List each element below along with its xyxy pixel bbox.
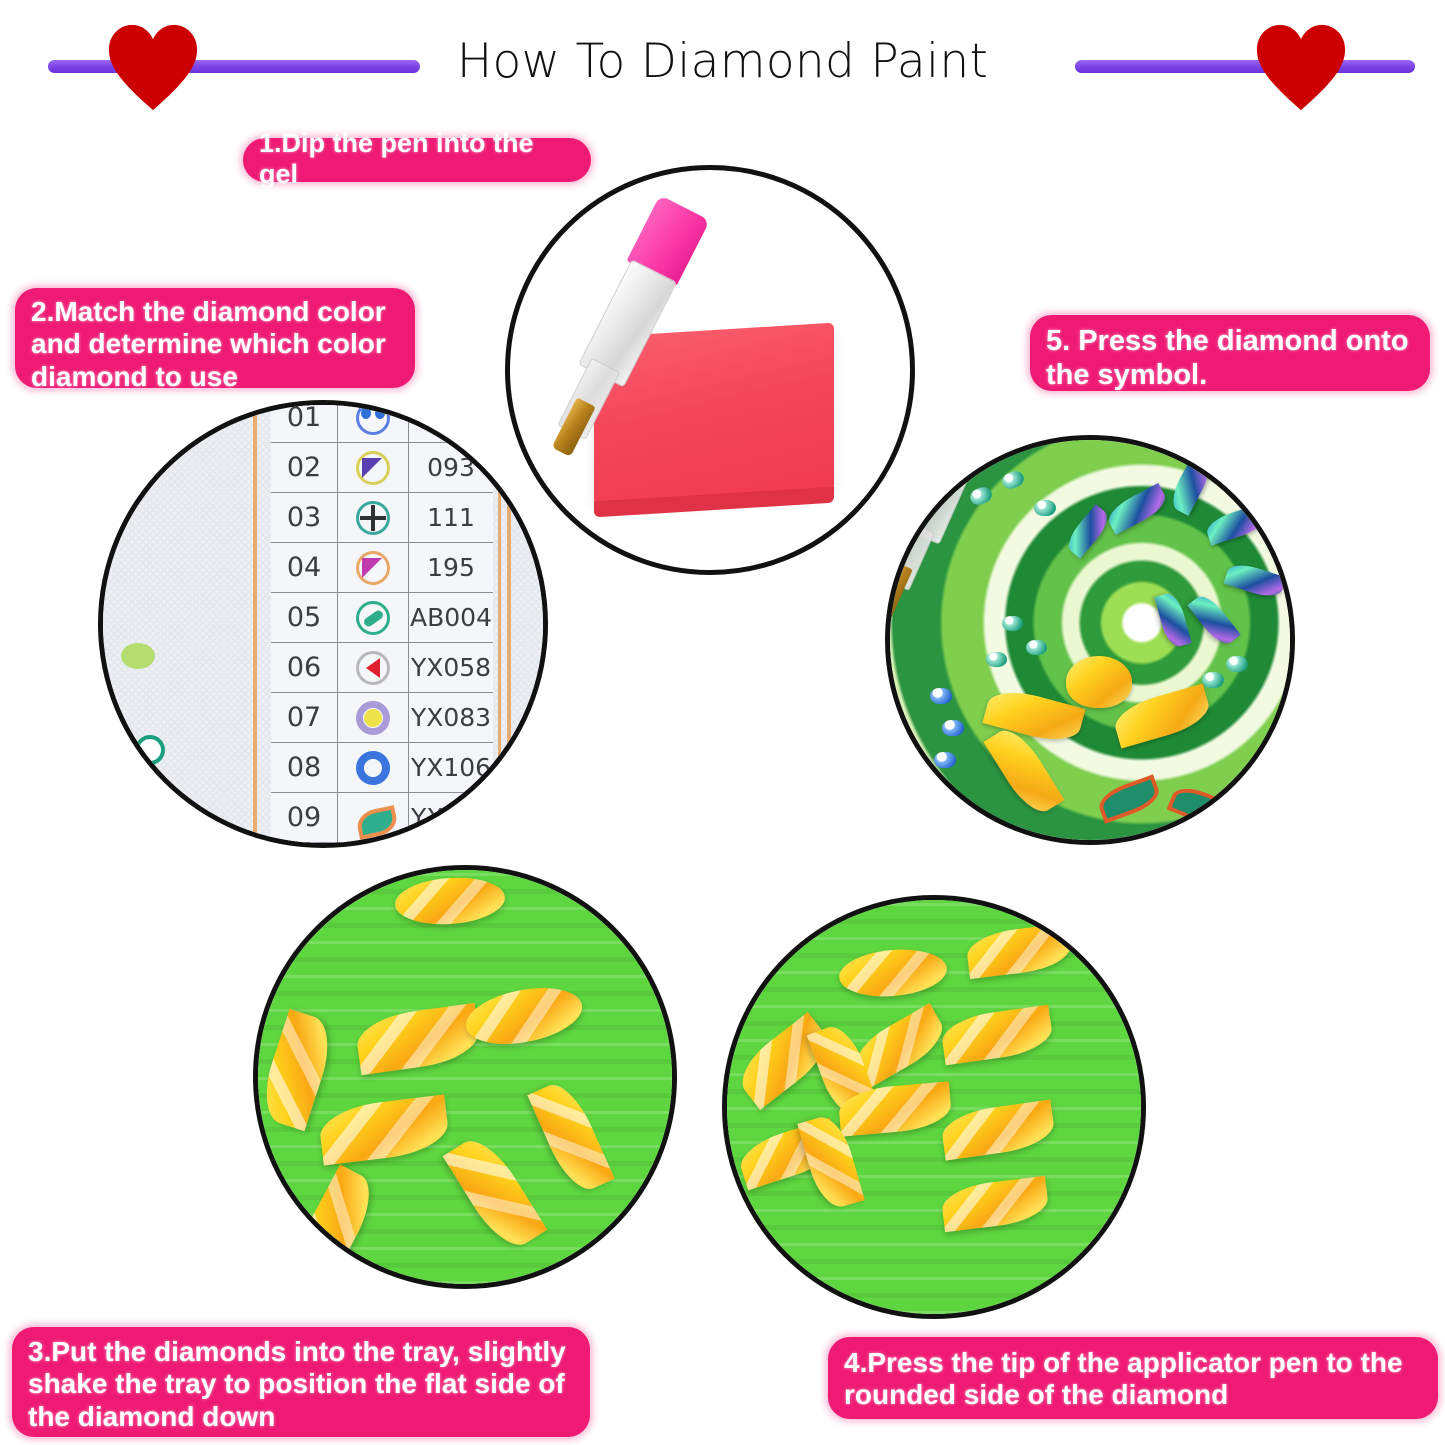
green-diamond-tray: [727, 900, 1141, 1314]
chart-code: YX125: [409, 793, 493, 842]
table-row: 04 195: [271, 543, 493, 593]
yellow-diamond: [287, 1164, 382, 1285]
small-gem-dot: [1226, 656, 1248, 672]
chart-number: 05: [271, 593, 338, 642]
step-1-photo-bubble: [505, 165, 915, 575]
step-2-photo-bubble: 01 028 02 093: [98, 400, 548, 848]
small-gem-dot: [930, 688, 952, 704]
chart-code: AB004: [409, 593, 493, 642]
canvas-sheet: 01 028 02 093: [103, 405, 543, 843]
chart-number: 08: [271, 743, 338, 792]
chart-number: 06: [271, 643, 338, 692]
yellow-diamond: [393, 874, 506, 928]
chart-symbol-plus-in-circle-icon: [338, 493, 409, 542]
small-gem-dot: [1202, 672, 1224, 688]
chart-symbol-open-ring-icon: [338, 743, 409, 792]
symbol-chart-table: 01 028 02 093: [271, 400, 493, 848]
canvas-symbol-blob-2: [135, 735, 165, 765]
chart-number: 02: [271, 443, 338, 492]
chart-number: 03: [271, 493, 338, 542]
chart-code: 195: [409, 543, 493, 592]
small-gem-dot: [942, 720, 964, 736]
pen-dipping-scene: [510, 170, 910, 570]
yellow-diamond: [443, 1130, 548, 1257]
yellow-diamond: [940, 1099, 1057, 1160]
small-gem-dot: [986, 652, 1007, 667]
chart-code: YX058: [409, 643, 493, 692]
table-row: 03 111: [271, 493, 493, 543]
chart-symbol-slash-in-circle-icon: [338, 593, 409, 642]
chart-code: 028: [409, 400, 493, 442]
page-header: How To Diamond Paint: [0, 0, 1445, 120]
yellow-diamond: [940, 1004, 1055, 1065]
yellow-diamond: [354, 1003, 483, 1075]
chart-number: 09: [271, 793, 338, 842]
chart-code: 093: [409, 443, 493, 492]
yellow-diamond: [317, 1094, 451, 1165]
small-gem-dot: [934, 752, 956, 768]
chart-code: YX083: [409, 693, 493, 742]
table-row: 05 AB004: [271, 593, 493, 643]
chart-symbol-leaf-outline-icon: [338, 793, 409, 842]
yellow-diamond: [527, 1077, 615, 1198]
chart-symbol-triangle-in-circle-icon: [338, 543, 409, 592]
table-row-partial: [271, 843, 493, 848]
mandala-scene: [890, 440, 1290, 840]
chart-rail-left: [253, 405, 257, 843]
yellow-diamond: [461, 979, 587, 1053]
small-gem-dot: [1034, 500, 1056, 516]
yellow-diamond: [940, 1175, 1051, 1232]
chart-code: YX106: [409, 743, 493, 792]
chart-symbol-leaf-outline-icon: [338, 843, 409, 848]
yellow-gem-under-pen: [1066, 656, 1132, 708]
chart-symbol-double-dot-circle-icon: [338, 400, 409, 442]
table-row: 01 028: [271, 400, 493, 443]
table-row: 09 YX125: [271, 793, 493, 843]
chart-number: 07: [271, 693, 338, 742]
yellow-diamond: [255, 1009, 339, 1132]
small-gem-dot: [1002, 616, 1023, 631]
chart-symbol-filled-dot-in-ring-icon: [338, 693, 409, 742]
step-3-label: 3.Put the diamonds into the tray, slight…: [12, 1327, 590, 1437]
step-5-photo-bubble: [885, 435, 1295, 845]
table-row: 07 YX083: [271, 693, 493, 743]
chart-rail-right-a: [498, 405, 501, 843]
chart-rail-right-b: [507, 405, 511, 843]
step-4-label: 4.Press the tip of the applicator pen to…: [828, 1337, 1438, 1419]
chart-code: 111: [409, 493, 493, 542]
chart-number: 04: [271, 543, 338, 592]
table-row: 02 093: [271, 443, 493, 493]
step-5-label: 5. Press the diamond onto the symbol.: [1030, 315, 1430, 391]
step-4-photo-bubble: [722, 895, 1146, 1319]
chart-symbol-triangle-in-circle-icon: [338, 443, 409, 492]
step-3-photo-bubble: [253, 865, 677, 1289]
green-diamond-tray: [258, 870, 672, 1284]
chart-number: 01: [271, 400, 338, 442]
step-2-label: 2.Match the diamond color and determine …: [15, 288, 415, 388]
table-row: 06 YX058: [271, 643, 493, 693]
page-title: How To Diamond Paint: [0, 34, 1445, 89]
yellow-diamond: [965, 923, 1074, 979]
table-row: 08 YX106: [271, 743, 493, 793]
chart-symbol-chevron-in-circle-icon: [338, 643, 409, 692]
canvas-symbol-blob-1: [121, 643, 155, 669]
small-gem-dot: [1026, 640, 1047, 655]
yellow-diamond: [837, 945, 949, 1000]
